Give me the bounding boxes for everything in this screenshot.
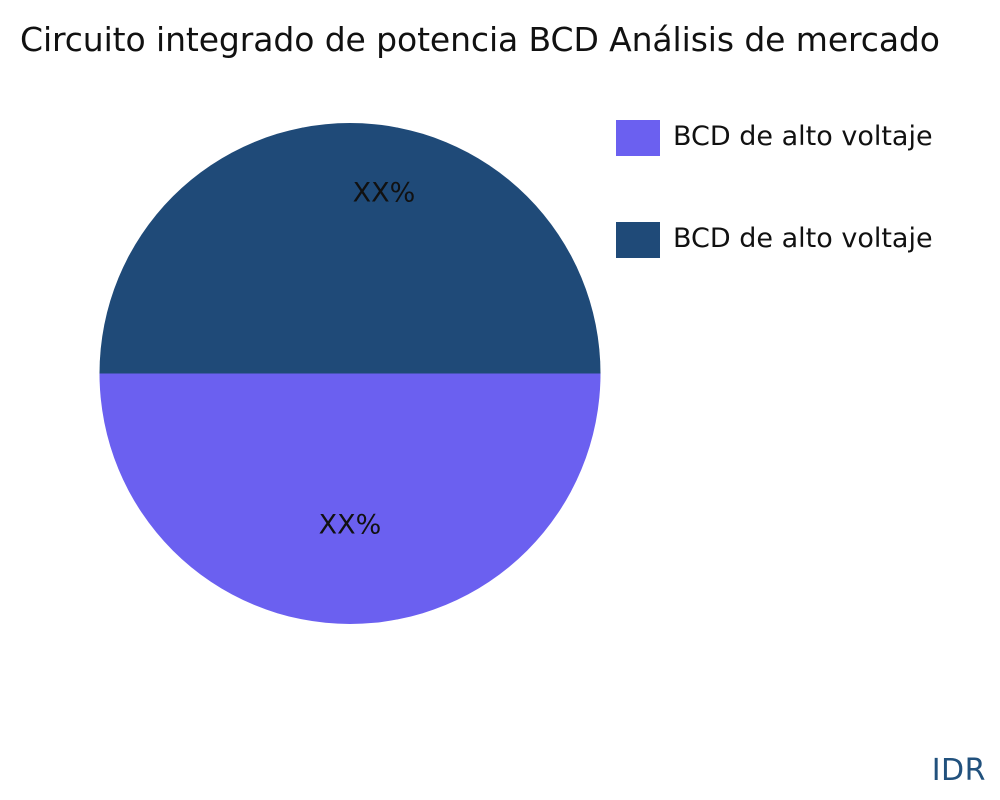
legend-item-label: BCD de alto voltaje	[673, 118, 933, 156]
legend-item-label: BCD de alto voltaje	[673, 220, 933, 258]
legend-item-0[interactable]: BCD de alto voltaje	[616, 118, 976, 220]
pie-chart-figure: Circuito integrado de potencia BCD Análi…	[0, 0, 1000, 800]
pie-slice-top[interactable]	[100, 123, 601, 374]
legend-color-swatch-icon	[616, 222, 660, 258]
watermark-logo: IDR	[932, 753, 986, 788]
chart-legend: BCD de alto voltaje BCD de alto voltaje	[616, 118, 976, 322]
chart-title: Circuito integrado de potencia BCD Análi…	[20, 18, 1000, 62]
pie-svg	[99, 122, 601, 625]
legend-color-swatch-icon	[616, 120, 660, 156]
pie-slice-bottom[interactable]	[100, 374, 601, 625]
legend-item-1[interactable]: BCD de alto voltaje	[616, 220, 976, 322]
pie-chart-plot-area: XX% XX%	[99, 122, 601, 625]
